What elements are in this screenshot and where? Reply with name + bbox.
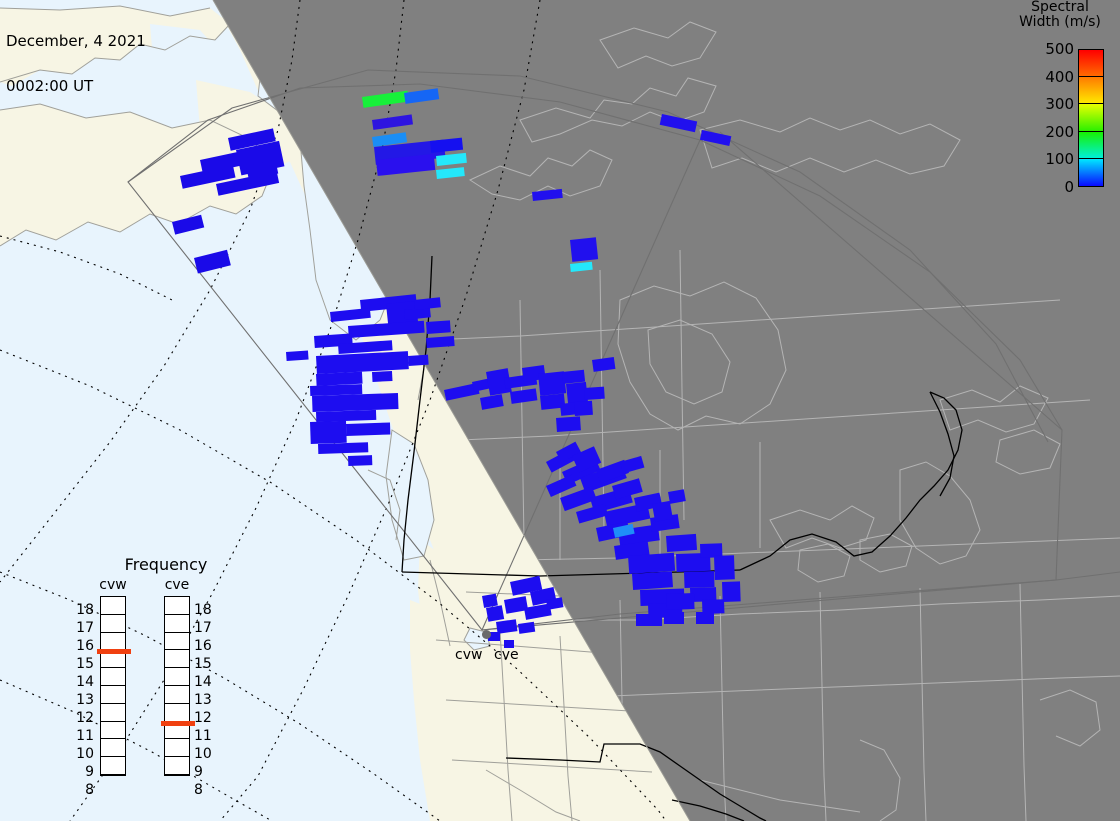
frequency-tick-16: 16 xyxy=(72,639,94,653)
frequency-marker-cve xyxy=(161,721,195,726)
colorbar-segment-400-500 xyxy=(1079,50,1103,77)
gauge-cell xyxy=(101,615,125,633)
gauge-cell xyxy=(165,704,189,722)
frequency-title: Frequency xyxy=(86,556,246,573)
colorbar-title: Spectral Width (m/s) xyxy=(1000,0,1120,30)
frequency-tick-17: 17 xyxy=(72,621,94,635)
colorbar-tick-100: 100 xyxy=(1045,152,1074,167)
timestamp-block: December, 4 2021 0002:00 UT xyxy=(6,4,146,124)
colorbar-segment-300-400 xyxy=(1079,77,1103,104)
colorbar-tick-400: 400 xyxy=(1045,70,1074,85)
frequency-tick-9: 9 xyxy=(194,765,216,779)
timestamp-time: 0002:00 UT xyxy=(6,79,146,94)
frequency-tick-11: 11 xyxy=(194,729,216,743)
gauge-cell xyxy=(165,615,189,633)
colorbar-tick-0: 0 xyxy=(1064,180,1074,195)
frequency-gauge-body-cvw xyxy=(100,596,126,776)
colorbar-segment-200-300 xyxy=(1079,104,1103,131)
gauge-cell xyxy=(101,597,125,615)
gauge-cell xyxy=(101,739,125,757)
frequency-tick-12: 12 xyxy=(72,711,94,725)
colorbar-tick-500: 500 xyxy=(1045,42,1074,57)
frequency-tick-14: 14 xyxy=(194,675,216,689)
frequency-tick-15: 15 xyxy=(194,657,216,671)
site-label-cve: cve xyxy=(494,648,519,663)
frequency-tick-13: 13 xyxy=(72,693,94,707)
frequency-gauge-label-cve: cve xyxy=(155,578,199,593)
frequency-gauge-label-cvw: cvw xyxy=(91,578,135,593)
gauge-cell xyxy=(165,686,189,704)
colorbar-title-line2: Width (m/s) xyxy=(1000,15,1120,30)
gauge-cell xyxy=(101,722,125,740)
frequency-tick-10: 10 xyxy=(72,747,94,761)
colorbar-tick-200: 200 xyxy=(1045,125,1074,140)
gauge-cell xyxy=(165,633,189,651)
gauge-cell xyxy=(165,597,189,615)
gauge-cell xyxy=(101,686,125,704)
frequency-tick-9: 9 xyxy=(72,765,94,779)
colorbar-segment-0-100 xyxy=(1079,159,1103,186)
frequency-tick-8: 8 xyxy=(72,783,94,797)
frequency-tick-10: 10 xyxy=(194,747,216,761)
frequency-tick-16: 16 xyxy=(194,639,216,653)
frequency-tick-13: 13 xyxy=(194,693,216,707)
gauge-cell xyxy=(101,668,125,686)
frequency-tick-17: 17 xyxy=(194,621,216,635)
gauge-cell xyxy=(165,650,189,668)
colorbar-panel: Spectral Width (m/s) 5004003002001000 xyxy=(1000,0,1120,200)
colorbar-tick-labels: 5004003002001000 xyxy=(1018,40,1074,200)
frequency-tick-14: 14 xyxy=(72,675,94,689)
frequency-gauge-body-cve xyxy=(164,596,190,776)
colorbar-tick-300: 300 xyxy=(1045,97,1074,112)
frequency-marker-cvw xyxy=(97,649,131,654)
frequency-tick-18: 18 xyxy=(72,603,94,617)
colorbar-segment-100-200 xyxy=(1079,132,1103,159)
frequency-tick-15: 15 xyxy=(72,657,94,671)
frequency-panel: Frequency cvw18171615141312111098cve1817… xyxy=(86,556,246,796)
radar-site-marker xyxy=(482,630,491,639)
frequency-tick-8: 8 xyxy=(194,783,216,797)
timestamp-date: December, 4 2021 xyxy=(6,34,146,49)
colorbar-gradient xyxy=(1078,49,1104,187)
frequency-tick-11: 11 xyxy=(72,729,94,743)
gauge-cell xyxy=(165,668,189,686)
frequency-tick-18: 18 xyxy=(194,603,216,617)
gauge-cell xyxy=(101,633,125,651)
gauge-cell xyxy=(101,757,125,775)
gauge-cell xyxy=(165,739,189,757)
gauge-cell xyxy=(165,757,189,775)
colorbar-title-line1: Spectral xyxy=(1000,0,1120,15)
gauge-cell xyxy=(101,704,125,722)
site-label-cvw: cvw xyxy=(455,648,482,663)
radar-map-canvas: December, 4 2021 0002:00 UT Spectral Wid… xyxy=(0,0,1120,821)
frequency-tick-12: 12 xyxy=(194,711,216,725)
